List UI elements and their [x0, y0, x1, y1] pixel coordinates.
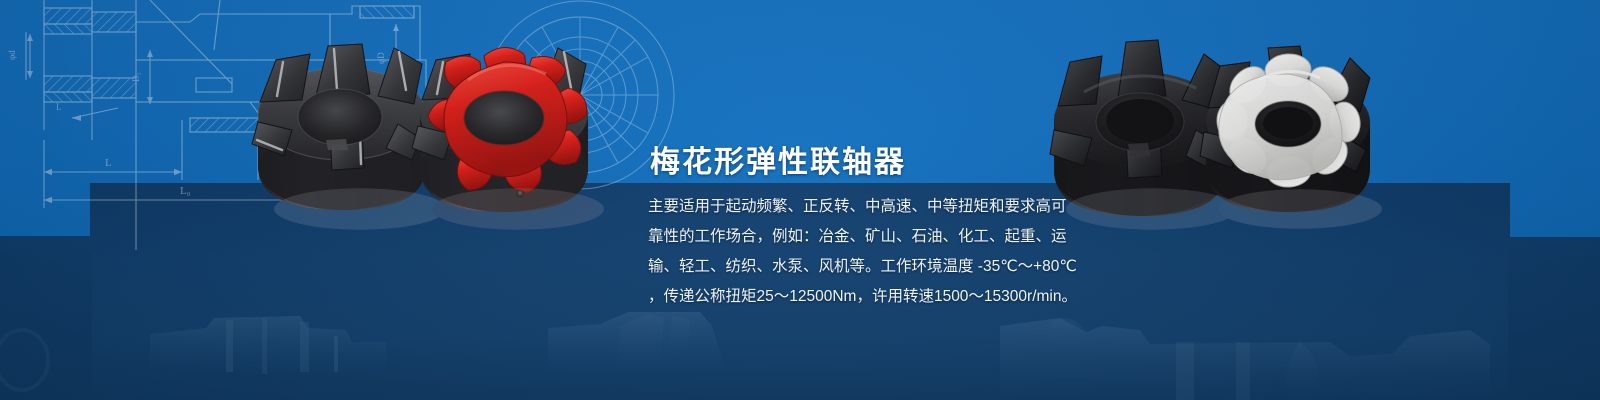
product-description: 主要适用于起动频繁、正反转、中高速、中等扭矩和要求高可 靠性的工作场合，例如：冶… — [648, 192, 1068, 312]
page-title: 梅花形弹性联轴器 — [650, 137, 906, 181]
description-line-4: ，传递公称扭矩25～12500Nm，许用转速1500～15300r/min。 — [648, 282, 1068, 312]
description-line-2: 靠性的工作场合，例如：冶金、矿山、石油、化工、起重、运 — [648, 222, 1068, 252]
description-line-1: 主要适用于起动频繁、正反转、中高速、中等扭矩和要求高可 — [648, 192, 1068, 222]
product-banner: φd — [0, 0, 1600, 400]
description-line-3: 输、轻工、纺织、水泵、风机等。工作环境温度 -35℃～+80℃ — [648, 252, 1068, 282]
